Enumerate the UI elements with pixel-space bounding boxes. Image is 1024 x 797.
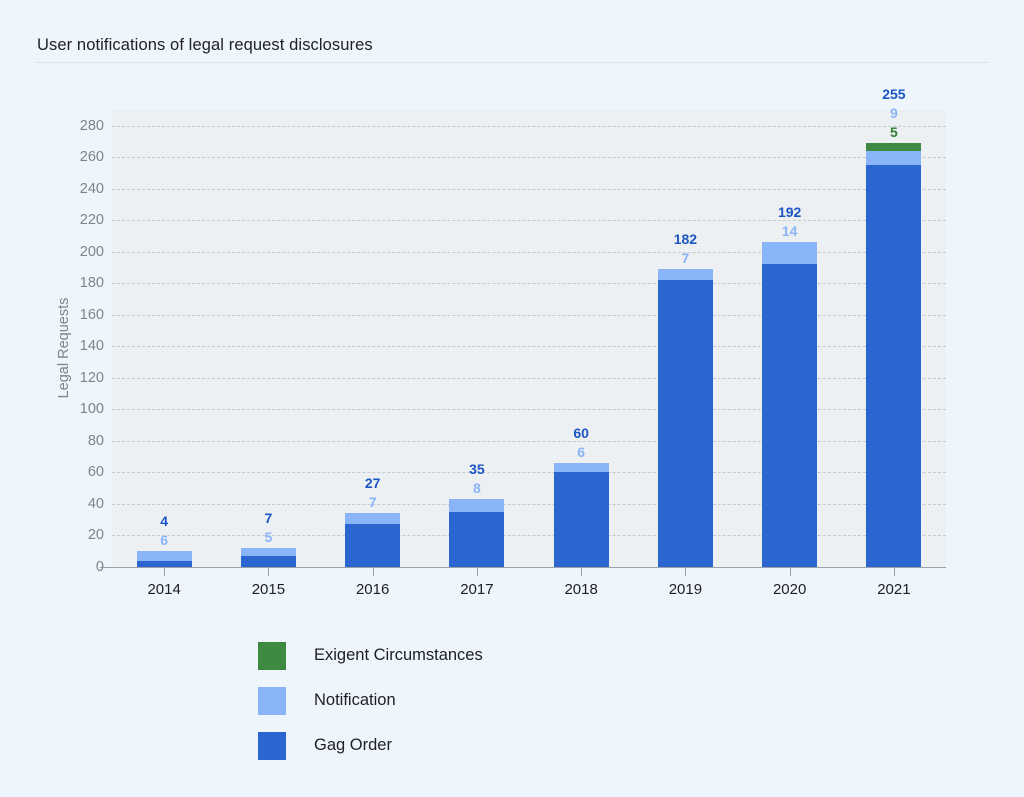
bars-layer: 6420145720157272016835201766020187182201… xyxy=(0,0,1024,797)
bar-segment-notification[interactable] xyxy=(449,499,504,512)
bar-segment-gag-order[interactable] xyxy=(762,264,817,567)
bar-group[interactable]: 660 xyxy=(554,110,609,567)
x-axis-tick-mark xyxy=(477,567,478,576)
x-axis-tick-mark xyxy=(581,567,582,576)
x-axis-tick-label: 2014 xyxy=(104,581,224,598)
x-axis-tick-mark xyxy=(164,567,165,576)
bar-label-gag-order: 35 xyxy=(417,461,537,477)
legend-label: Exigent Circumstances xyxy=(314,646,483,665)
legend-swatch-icon xyxy=(258,642,286,670)
x-axis-tick-mark xyxy=(268,567,269,576)
bar-label-gag-order: 7 xyxy=(208,510,328,526)
bar-segment-notification[interactable] xyxy=(658,269,713,280)
legend-item[interactable]: Notification xyxy=(258,678,483,723)
bar-segment-notification[interactable] xyxy=(866,151,921,165)
bar-label-gag-order: 60 xyxy=(521,425,641,441)
x-axis-tick-mark xyxy=(685,567,686,576)
bar-label-notification: 6 xyxy=(521,444,641,460)
legend-item[interactable]: Gag Order xyxy=(258,723,483,768)
legend-label: Notification xyxy=(314,691,396,710)
bar-label-gag-order: 27 xyxy=(313,475,433,491)
bar-label-notification: 6 xyxy=(104,532,224,548)
bar-label-gag-order: 255 xyxy=(834,86,954,102)
x-axis-tick-label: 2017 xyxy=(417,581,537,598)
bar-segment-exigent[interactable] xyxy=(866,143,921,151)
bar-label-notification: 7 xyxy=(313,494,433,510)
x-axis-tick-mark xyxy=(790,567,791,576)
x-axis-tick-label: 2021 xyxy=(834,581,954,598)
x-axis-tick-mark xyxy=(894,567,895,576)
legend-item[interactable]: Exigent Circumstances xyxy=(258,633,483,678)
x-axis-tick-label: 2018 xyxy=(521,581,641,598)
bar-label-notification: 8 xyxy=(417,480,537,496)
bar-segment-gag-order[interactable] xyxy=(241,556,296,567)
bar-group[interactable]: 64 xyxy=(137,110,192,567)
bar-segment-gag-order[interactable] xyxy=(345,524,400,567)
bar-label-notification: 7 xyxy=(625,250,745,266)
bar-group[interactable]: 14192 xyxy=(762,110,817,567)
bar-segment-notification[interactable] xyxy=(137,551,192,560)
bar-segment-gag-order[interactable] xyxy=(554,472,609,567)
chart-legend: Exigent CircumstancesNotificationGag Ord… xyxy=(258,633,483,768)
bar-segment-notification[interactable] xyxy=(345,513,400,524)
bar-label-gag-order: 182 xyxy=(625,231,745,247)
bar-segment-gag-order[interactable] xyxy=(449,512,504,567)
bar-group[interactable]: 7182 xyxy=(658,110,713,567)
bar-group[interactable]: 57 xyxy=(241,110,296,567)
bar-label-gag-order: 4 xyxy=(104,513,224,529)
legend-swatch-icon xyxy=(258,732,286,760)
chart-page: User notifications of legal request disc… xyxy=(0,0,1024,797)
bar-label-gag-order: 192 xyxy=(730,204,850,220)
bar-segment-notification[interactable] xyxy=(762,242,817,264)
bar-segment-gag-order[interactable] xyxy=(866,165,921,567)
legend-swatch-icon xyxy=(258,687,286,715)
bar-label-notification: 5 xyxy=(208,529,328,545)
legend-label: Gag Order xyxy=(314,736,392,755)
bar-segment-gag-order[interactable] xyxy=(658,280,713,567)
x-axis-tick-mark xyxy=(373,567,374,576)
bar-group[interactable]: 727 xyxy=(345,110,400,567)
bar-group[interactable]: 59255 xyxy=(866,110,921,567)
x-axis-tick-label: 2016 xyxy=(313,581,433,598)
bar-label-notification: 9 xyxy=(834,105,954,121)
bar-label-exigent: 5 xyxy=(834,124,954,140)
bar-segment-notification[interactable] xyxy=(241,548,296,556)
bar-label-notification: 14 xyxy=(730,223,850,239)
x-axis-tick-label: 2020 xyxy=(730,581,850,598)
plot-wrapper: 020406080100120140160180200220240260280 … xyxy=(0,0,1024,797)
bar-segment-notification[interactable] xyxy=(554,463,609,472)
bar-group[interactable]: 835 xyxy=(449,110,504,567)
x-axis-tick-label: 2015 xyxy=(208,581,328,598)
x-axis-tick-label: 2019 xyxy=(625,581,745,598)
